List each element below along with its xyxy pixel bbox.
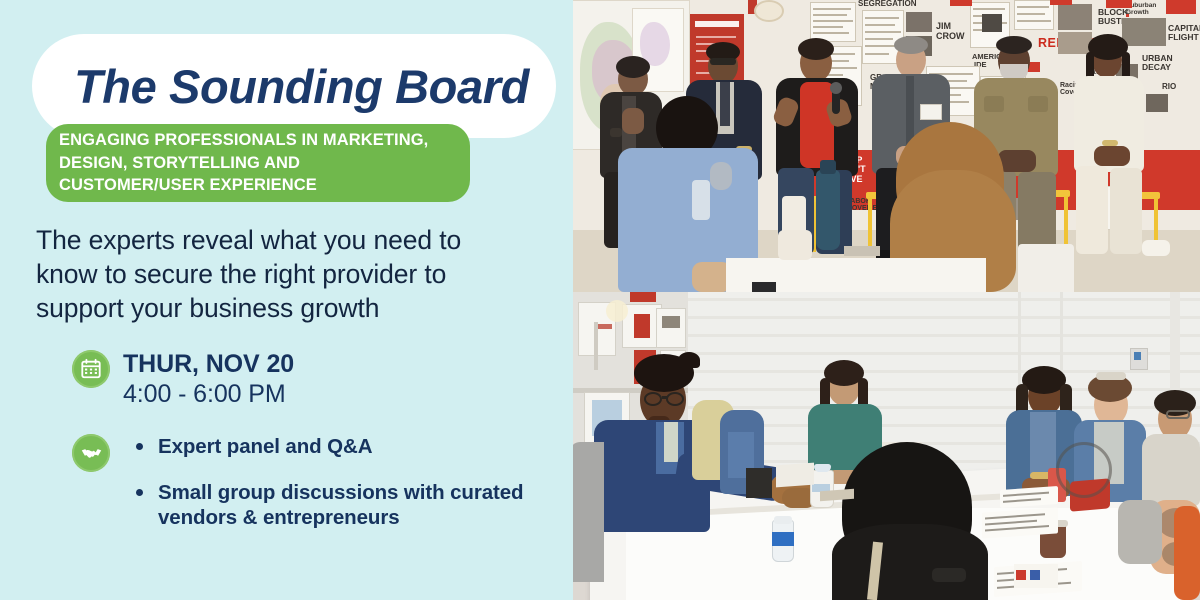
- title-card: The Sounding Board: [32, 34, 556, 138]
- panel-scene: SEGREGATION JIMCROW AMERICAN IDE REDLINI…: [570, 0, 1200, 292]
- handshake-icon: [72, 434, 110, 472]
- date-row: THUR, NOV 20 4:00 - 6:00 PM: [72, 350, 294, 409]
- agenda-list: Expert panel and Q&A Small group discuss…: [110, 434, 570, 531]
- roundtable-discussion-photo: [570, 292, 1200, 600]
- subtitle-text: ENGAGING PROFESSIONALS IN MARKETING, DES…: [46, 129, 428, 197]
- event-flyer: The Sounding Board ENGAGING PROFESSIONAL…: [0, 0, 1200, 600]
- roundtable-scene: [570, 292, 1200, 600]
- event-time: 4:00 - 6:00 PM: [123, 379, 294, 409]
- subtitle-badge: ENGAGING PROFESSIONALS IN MARKETING, DES…: [46, 124, 470, 202]
- flyer-content-panel: The Sounding Board ENGAGING PROFESSIONAL…: [0, 0, 570, 600]
- photo-edge-divider: [570, 0, 573, 600]
- event-date: THUR, NOV 20: [123, 350, 294, 379]
- date-block: THUR, NOV 20 4:00 - 6:00 PM: [110, 350, 294, 409]
- list-item: Expert panel and Q&A: [136, 434, 570, 460]
- calendar-icon: [72, 350, 110, 388]
- panel-discussion-photo: SEGREGATION JIMCROW AMERICAN IDE REDLINI…: [570, 0, 1200, 292]
- lede-paragraph: The experts reveal what you need to know…: [36, 224, 506, 326]
- page-title: The Sounding Board: [32, 63, 529, 110]
- list-item: Small group discussions with curated ven…: [136, 480, 570, 531]
- agenda-row: Expert panel and Q&A Small group discuss…: [72, 434, 570, 531]
- photo-column: SEGREGATION JIMCROW AMERICAN IDE REDLINI…: [570, 0, 1200, 600]
